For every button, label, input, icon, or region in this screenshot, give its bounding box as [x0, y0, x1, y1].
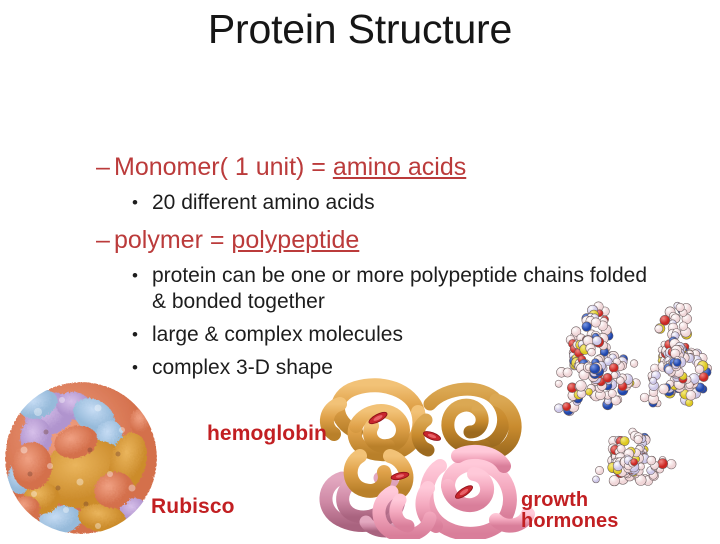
rubisco-svg: [2, 378, 160, 538]
slide-canvas: Protein Structure – Monomer( 1 unit) = a…: [0, 0, 720, 539]
hemoglobin-svg: [300, 360, 545, 539]
dash-marker: –: [96, 152, 110, 182]
bullet-text-monomer: Monomer( 1 unit) =: [114, 153, 333, 181]
dot-marker: •: [132, 263, 138, 289]
hemoglobin-label: hemoglobin: [207, 423, 327, 445]
growth-hormones-image: [548, 295, 720, 495]
rubisco-protein-image: [2, 378, 160, 538]
growth-hormones-label-line2: hormones: [521, 511, 618, 532]
bullet-underlined-polypeptide: polypeptide: [231, 226, 359, 254]
dash-marker: –: [96, 225, 110, 255]
bullet-item-polymer: – polymer = polypeptide: [0, 225, 720, 255]
dot-marker: •: [132, 322, 138, 348]
bullet-underlined-amino-acids: amino acids: [333, 153, 466, 181]
bullet-item-monomer: – Monomer( 1 unit) = amino acids: [0, 152, 720, 182]
bullet-item-20-amino-acids: • 20 different amino acids: [0, 190, 720, 216]
rubisco-label: Rubisco: [151, 496, 235, 518]
bullet-text-polymer: polymer =: [114, 226, 231, 254]
growth-hormones-label: growth hormones: [521, 490, 618, 532]
page-title: Protein Structure: [0, 6, 720, 52]
growth-hormones-label-line1: growth: [521, 490, 618, 511]
hemoglobin-protein-image: [300, 360, 545, 539]
dot-marker: •: [132, 190, 138, 216]
bullet-text-20-amino-acids: 20 different amino acids: [152, 190, 652, 216]
growth-hormones-svg: [548, 295, 720, 495]
